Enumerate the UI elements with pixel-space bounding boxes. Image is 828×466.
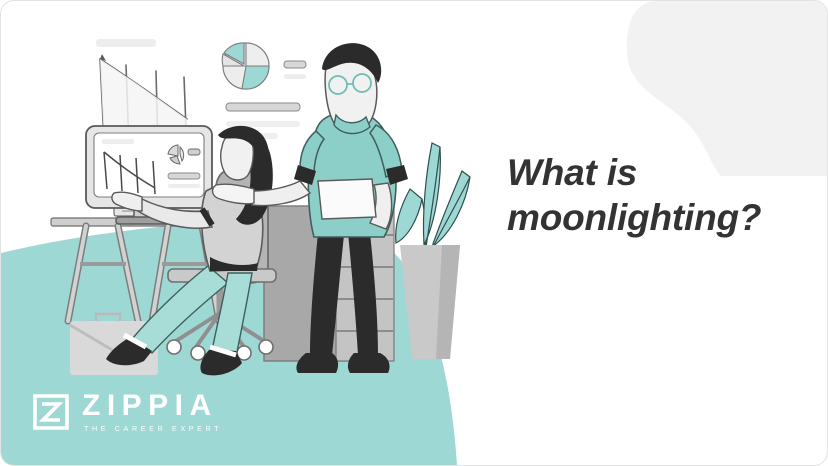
slide-canvas: .ln{fill:none;stroke:#5a5a5a;stroke-widt…	[0, 0, 828, 466]
zippia-logo[interactable]: ZIPPIA THE CAREER EXPERT	[31, 391, 222, 432]
headline-line-2: moonlighting?	[507, 196, 807, 241]
zippia-z-mark-icon	[31, 392, 71, 432]
zippia-tagline: THE CAREER EXPERT	[84, 425, 222, 432]
hero-illustration: .ln{fill:none;stroke:#5a5a5a;stroke-widt…	[56, 21, 476, 391]
wall-pie-chart	[222, 43, 306, 139]
decorative-blob-top-right	[597, 1, 827, 176]
zippia-wordmark: ZIPPIA	[82, 391, 222, 421]
headline-line-1: What is	[507, 152, 637, 193]
page-title: What is moonlighting?	[507, 151, 807, 241]
zippia-logo-text: ZIPPIA THE CAREER EXPERT	[82, 391, 222, 432]
